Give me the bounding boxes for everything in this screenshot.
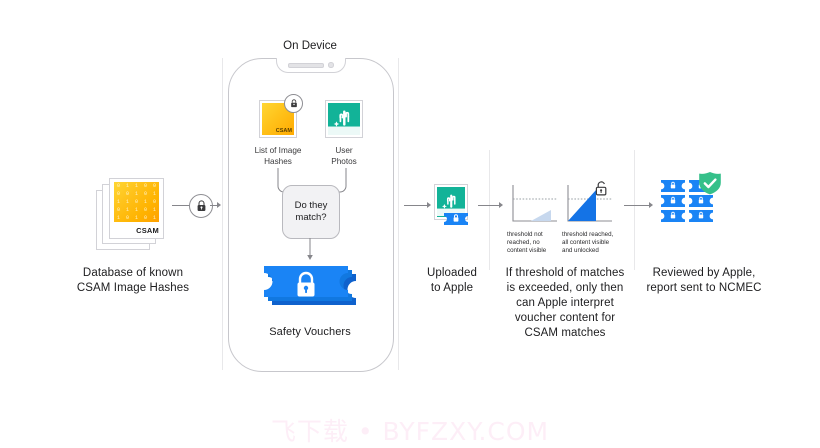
csam-database-icon: 0 1 1 0 0 0 0 1 0 1 1 1 0 1 0 0 1 1 0 1 bbox=[96, 178, 164, 250]
phone-notch bbox=[276, 58, 346, 73]
lock-icon bbox=[290, 99, 298, 108]
hash-digit: 0 bbox=[126, 216, 129, 221]
on-device-title: On Device bbox=[240, 39, 380, 53]
hashes-lock-badge bbox=[284, 94, 303, 113]
below-label-line2: reached, no bbox=[507, 239, 561, 247]
hash-digit: 1 bbox=[153, 216, 156, 221]
threshold-chart-below bbox=[507, 183, 559, 229]
below-label-line1: threshold not bbox=[507, 231, 561, 239]
lock-icon bbox=[196, 200, 207, 212]
camera-dot bbox=[328, 62, 334, 68]
hash-digit: 0 bbox=[126, 192, 129, 197]
database-caption: Database of known CSAM Image Hashes bbox=[38, 266, 228, 296]
safety-vouchers-label: Safety Vouchers bbox=[240, 325, 380, 340]
user-photos-tile bbox=[325, 100, 363, 138]
safety-vouchers-icon bbox=[258, 262, 366, 314]
hash-digit: 1 bbox=[153, 192, 156, 197]
hash-digit: 1 bbox=[126, 208, 129, 213]
arrow-upload-to-threshold bbox=[478, 205, 500, 206]
arrow-match-to-vouchers bbox=[303, 238, 317, 262]
lock-badge bbox=[189, 194, 213, 218]
photos-tile-label: User Photos bbox=[304, 146, 384, 167]
hash-digit: 0 bbox=[144, 184, 147, 189]
above-label-line2: all content visible bbox=[562, 239, 622, 247]
hash-digit: 1 bbox=[135, 208, 138, 213]
threshold-caption-line1: If threshold of matches bbox=[495, 266, 635, 281]
above-label-line3: and unlocked bbox=[562, 247, 622, 255]
review-caption-line2: report sent to NCMEC bbox=[620, 281, 788, 296]
review-vouchers-grid bbox=[659, 170, 727, 232]
unlock-icon bbox=[598, 182, 604, 188]
uploaded-caption: Uploaded to Apple bbox=[404, 266, 500, 296]
csam-card-tag: CSAM bbox=[136, 226, 159, 235]
watermark: 飞下载 • BYFZXY.COM bbox=[0, 412, 820, 448]
uploaded-caption-line1: Uploaded bbox=[404, 266, 500, 281]
hash-digit: 1 bbox=[117, 216, 120, 221]
divider-3 bbox=[489, 150, 490, 270]
arrow-head-3 bbox=[499, 202, 503, 208]
below-label-line3: content visible bbox=[507, 247, 561, 255]
hash-digit: 1 bbox=[135, 192, 138, 197]
match-box-line1: Do they bbox=[295, 200, 328, 212]
hash-digit: 0 bbox=[153, 184, 156, 189]
hash-digit: 1 bbox=[126, 184, 129, 189]
hash-digit: 0 bbox=[144, 192, 147, 197]
photos-label-line2: Photos bbox=[304, 157, 384, 168]
uploaded-voucher-badge bbox=[442, 212, 470, 226]
cactus-photo-icon bbox=[328, 103, 360, 135]
divider-1 bbox=[222, 58, 223, 370]
hash-digit: 1 bbox=[153, 208, 156, 213]
above-label-line1: threshold reached, bbox=[562, 231, 622, 239]
divider-4 bbox=[634, 150, 635, 270]
hash-digit: 1 bbox=[117, 200, 120, 205]
review-caption: Reviewed by Apple, report sent to NCMEC bbox=[620, 266, 788, 296]
do-they-match-box: Do they match? bbox=[282, 185, 340, 239]
threshold-caption-line3: can Apple interpret bbox=[495, 296, 635, 311]
hash-digit: 0 bbox=[117, 184, 120, 189]
arrow-phone-to-upload bbox=[404, 205, 428, 206]
hash-digit: 0 bbox=[144, 208, 147, 213]
diagram-canvas: 0 1 1 0 0 0 0 1 0 1 1 1 0 1 0 0 1 1 0 1 bbox=[0, 0, 820, 448]
threshold-caption-line2: is exceeded, only then bbox=[495, 281, 635, 296]
hashes-tile-tag: CSAM bbox=[276, 128, 292, 134]
speaker-slot bbox=[288, 63, 324, 68]
hash-grid: 0 1 1 0 0 0 0 1 0 1 1 1 0 1 0 0 1 1 0 1 bbox=[114, 182, 159, 222]
arrow-db-to-lock bbox=[172, 205, 190, 206]
arrow-head-1 bbox=[217, 202, 221, 208]
hash-digit: 0 bbox=[144, 216, 147, 221]
match-box-line2: match? bbox=[295, 212, 328, 224]
hash-digit: 1 bbox=[135, 216, 138, 221]
database-caption-line1: Database of known bbox=[38, 266, 228, 281]
hash-digit: 0 bbox=[135, 200, 138, 205]
hash-digit: 1 bbox=[126, 200, 129, 205]
uploaded-caption-line2: to Apple bbox=[404, 281, 500, 296]
arrow-head-4 bbox=[649, 202, 653, 208]
arrow-head-2 bbox=[427, 202, 431, 208]
hash-digit: 0 bbox=[117, 192, 120, 197]
divider-2 bbox=[398, 58, 399, 370]
voucher-row bbox=[661, 210, 713, 222]
threshold-caption-line5: CSAM matches bbox=[495, 326, 635, 341]
voucher-row bbox=[661, 195, 713, 207]
threshold-caption-line4: voucher content for bbox=[495, 311, 635, 326]
hash-digit: 1 bbox=[144, 200, 147, 205]
review-caption-line1: Reviewed by Apple, bbox=[620, 266, 788, 281]
photos-label-line1: User bbox=[304, 146, 384, 157]
hash-digit: 0 bbox=[153, 200, 156, 205]
hash-digit: 1 bbox=[135, 184, 138, 189]
voucher-ticket-lock bbox=[258, 262, 366, 314]
database-caption-line2: CSAM Image Hashes bbox=[38, 281, 228, 296]
arrow-threshold-to-review bbox=[624, 205, 650, 206]
threshold-chart-below-label: threshold not reached, no content visibl… bbox=[507, 231, 561, 255]
threshold-chart-above-label: threshold reached, all content visible a… bbox=[562, 231, 622, 255]
unlock-badge bbox=[592, 179, 610, 199]
threshold-caption: If threshold of matches is exceeded, onl… bbox=[495, 266, 635, 341]
hash-digit: 0 bbox=[117, 208, 120, 213]
